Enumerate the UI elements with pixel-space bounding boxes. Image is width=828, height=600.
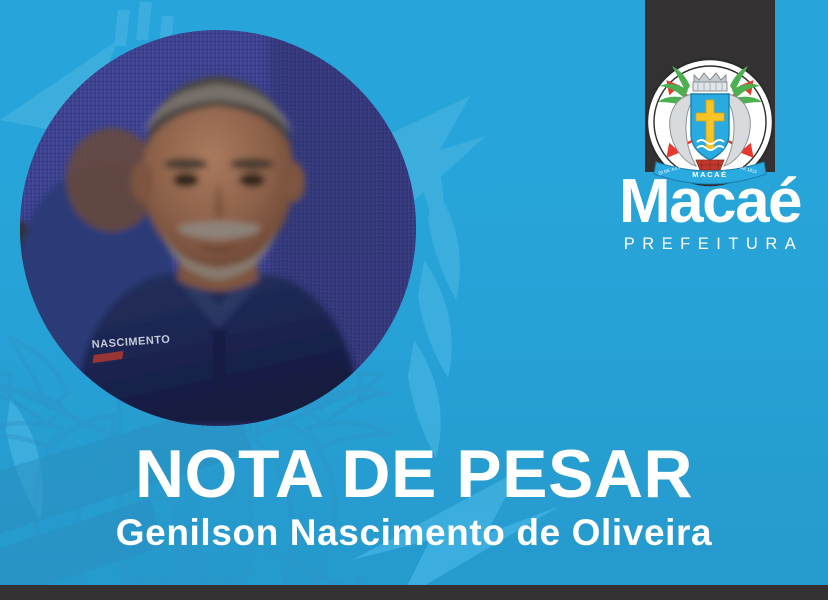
brand-name: Macaé <box>604 172 816 233</box>
portrait-photo: NASCIMENTO <box>20 30 416 426</box>
headline-block: NOTA DE PESAR Genilson Nascimento de Oli… <box>0 440 828 553</box>
deceased-name: Genilson Nascimento de Oliveira <box>0 514 828 553</box>
brand-subtitle: PREFEITURA <box>604 235 816 254</box>
bottom-dark-band <box>0 585 828 600</box>
portrait-photo-svg: NASCIMENTO <box>20 30 416 426</box>
nota-de-pesar-card: MACAE 20 de julho 1813 <box>0 0 828 600</box>
brand-wordmark: Macaé PREFEITURA <box>604 172 816 254</box>
headline-title: NOTA DE PESAR <box>0 440 828 508</box>
